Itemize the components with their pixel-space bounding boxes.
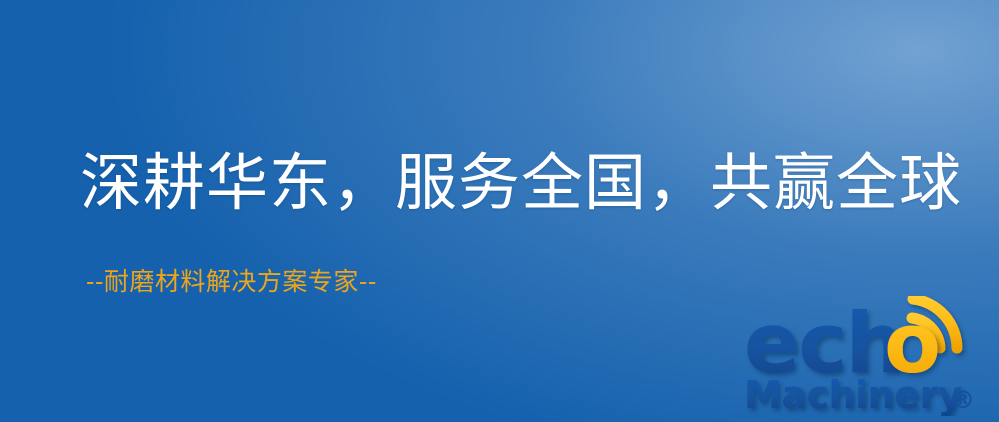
- banner-content: 深耕华东，服务全国，共赢全球 --耐磨材料解决方案专家--: [0, 0, 999, 422]
- banner-subtitle: --耐磨材料解决方案专家--: [86, 266, 377, 298]
- logo-wordmark-secondary: Machinery: [744, 373, 963, 416]
- page-title: 深耕华东，服务全国，共赢全球: [80, 146, 962, 220]
- registered-trademark-symbol: ®: [951, 386, 975, 414]
- promo-banner: 深耕华东，服务全国，共赢全球 --耐磨材料解决方案专家--: [0, 0, 999, 422]
- echo-machinery-logo[interactable]: ech o Machinery ®: [744, 296, 996, 416]
